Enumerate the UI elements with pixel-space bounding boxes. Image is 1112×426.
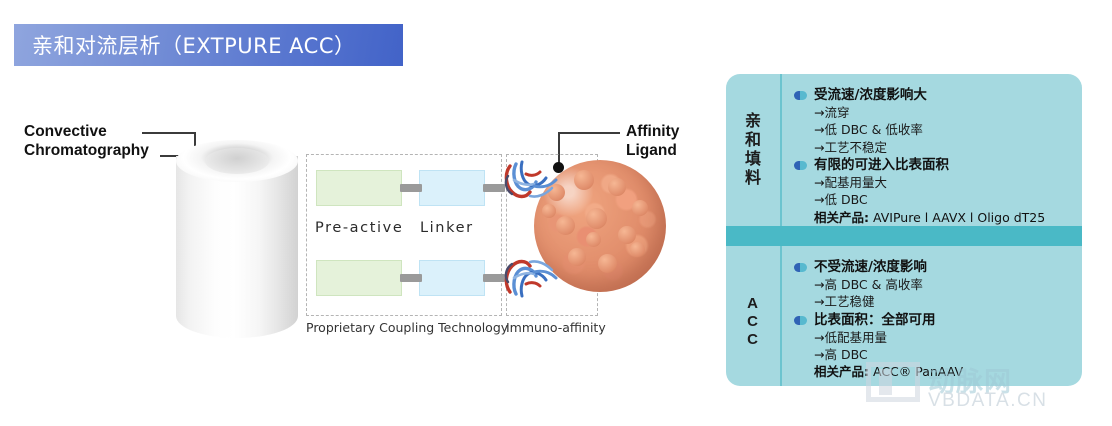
bullet-sub-line: →流穿 bbox=[794, 104, 1074, 121]
watermark-en-text: VBDATA.CN bbox=[928, 390, 1047, 412]
related-products-line: 相关产品: ACC® PanAAV bbox=[794, 363, 1074, 381]
section-key-char: A bbox=[747, 295, 759, 313]
related-products-line: 相关产品: AVIPure l AAVX l Oligo dT25 bbox=[794, 209, 1074, 227]
page-header-banner: 亲和对流层析（EXTPURE ACC） bbox=[14, 24, 403, 66]
bullet-sub-line: →配基用量大 bbox=[794, 174, 1074, 191]
connector-preactive-linker-lower bbox=[400, 274, 422, 282]
bullet-sub-line: →低 DBC & 低收率 bbox=[794, 121, 1074, 138]
callout-affinity-ligand: Affinity Ligand bbox=[626, 122, 679, 161]
column-body bbox=[176, 156, 298, 338]
antibody-ribbon-icon-lower bbox=[500, 246, 562, 302]
leader-line-convective-horizontal-top bbox=[142, 132, 196, 134]
bullet-item: 比表面积：全部可用 bbox=[794, 311, 1074, 329]
label-pre-active: Pre-active bbox=[315, 220, 403, 236]
panel-section-divider bbox=[726, 226, 1082, 246]
callout-affinity-line1: Affinity bbox=[626, 122, 679, 141]
callout-affinity-line2: Ligand bbox=[626, 141, 679, 160]
bullet-heading: 比表面积：全部可用 bbox=[814, 311, 936, 329]
section-key-affinity-resin: 亲 和 填 料 bbox=[726, 74, 782, 226]
antibody-ribbon-icon-upper bbox=[500, 156, 562, 212]
bullet-item: 受流速/浓度影响大 bbox=[794, 86, 1074, 104]
panel-section-affinity-resin: 亲 和 填 料 受流速/浓度影响大 →流穿 →低 DBC & 低收率 →工艺不稳… bbox=[726, 74, 1082, 226]
split-circle-bullet-icon bbox=[794, 263, 807, 272]
bullet-sub-line: →高 DBC & 高收率 bbox=[794, 276, 1074, 293]
comparison-info-panel: 亲 和 填 料 受流速/浓度影响大 →流穿 →低 DBC & 低收率 →工艺不稳… bbox=[726, 74, 1082, 386]
related-products-label: 相关产品: bbox=[814, 364, 869, 379]
connector-preactive-linker-upper bbox=[400, 184, 422, 192]
bullet-heading: 受流速/浓度影响大 bbox=[814, 86, 927, 104]
related-products-label: 相关产品: bbox=[814, 210, 869, 225]
section-body-affinity-resin: 受流速/浓度影响大 →流穿 →低 DBC & 低收率 →工艺不稳定 有限的可进入… bbox=[782, 74, 1082, 226]
linker-block-lower bbox=[419, 260, 485, 296]
section-key-char: 填 bbox=[745, 150, 761, 169]
linker-block-upper bbox=[419, 170, 485, 206]
bullet-sub-line: →高 DBC bbox=[794, 346, 1074, 363]
section-key-char: 料 bbox=[745, 169, 761, 188]
bullet-heading: 有限的可进入比表面积 bbox=[814, 156, 949, 174]
related-products-value: AVIPure l AAVX l Oligo dT25 bbox=[873, 210, 1045, 225]
split-circle-bullet-icon bbox=[794, 316, 807, 325]
bullet-item: 有限的可进入比表面积 bbox=[794, 156, 1074, 174]
section-key-char: 和 bbox=[745, 131, 761, 150]
panel-section-acc: A C C 不受流速/浓度影响 →高 DBC & 高收率 →工艺稳健 比表面积：… bbox=[726, 246, 1082, 386]
split-circle-bullet-icon bbox=[794, 161, 807, 170]
bullet-sub-line: →低 DBC bbox=[794, 191, 1074, 208]
section-body-acc: 不受流速/浓度影响 →高 DBC & 高收率 →工艺稳健 比表面积：全部可用 →… bbox=[782, 246, 1082, 386]
section-key-char: C bbox=[747, 313, 759, 331]
page-title: 亲和对流层析（EXTPURE ACC） bbox=[32, 30, 356, 60]
bullet-item: 不受流速/浓度影响 bbox=[794, 258, 1074, 276]
column-bore-opening bbox=[205, 148, 269, 174]
bullet-sub-line: →低配基用量 bbox=[794, 329, 1074, 346]
caption-immuno-affinity: Immuno-affinity bbox=[506, 320, 606, 335]
pre-active-block-upper bbox=[316, 170, 402, 206]
section-key-char: C bbox=[747, 331, 759, 349]
caption-proprietary-coupling-technology: Proprietary Coupling Technology bbox=[306, 320, 508, 335]
callout-convective-chromatography: Convective Chromatography bbox=[24, 122, 149, 161]
label-linker: Linker bbox=[420, 220, 474, 236]
callout-convective-line2: Chromatography bbox=[24, 141, 149, 160]
callout-convective-line1: Convective bbox=[24, 122, 149, 141]
related-products-value: ACC® PanAAV bbox=[873, 364, 963, 379]
pre-active-block-lower bbox=[316, 260, 402, 296]
section-key-char: 亲 bbox=[745, 112, 761, 131]
leader-line-affinity-horizontal bbox=[558, 132, 620, 134]
bullet-heading: 不受流速/浓度影响 bbox=[814, 258, 927, 276]
split-circle-bullet-icon bbox=[794, 91, 807, 100]
process-diagram: Convective Chromatography Affinity Ligan… bbox=[0, 64, 720, 424]
section-key-acc: A C C bbox=[726, 246, 782, 386]
bullet-sub-line: →工艺稳健 bbox=[794, 293, 1074, 310]
bullet-sub-line: →工艺不稳定 bbox=[794, 139, 1074, 156]
monolith-column-icon bbox=[176, 140, 298, 350]
